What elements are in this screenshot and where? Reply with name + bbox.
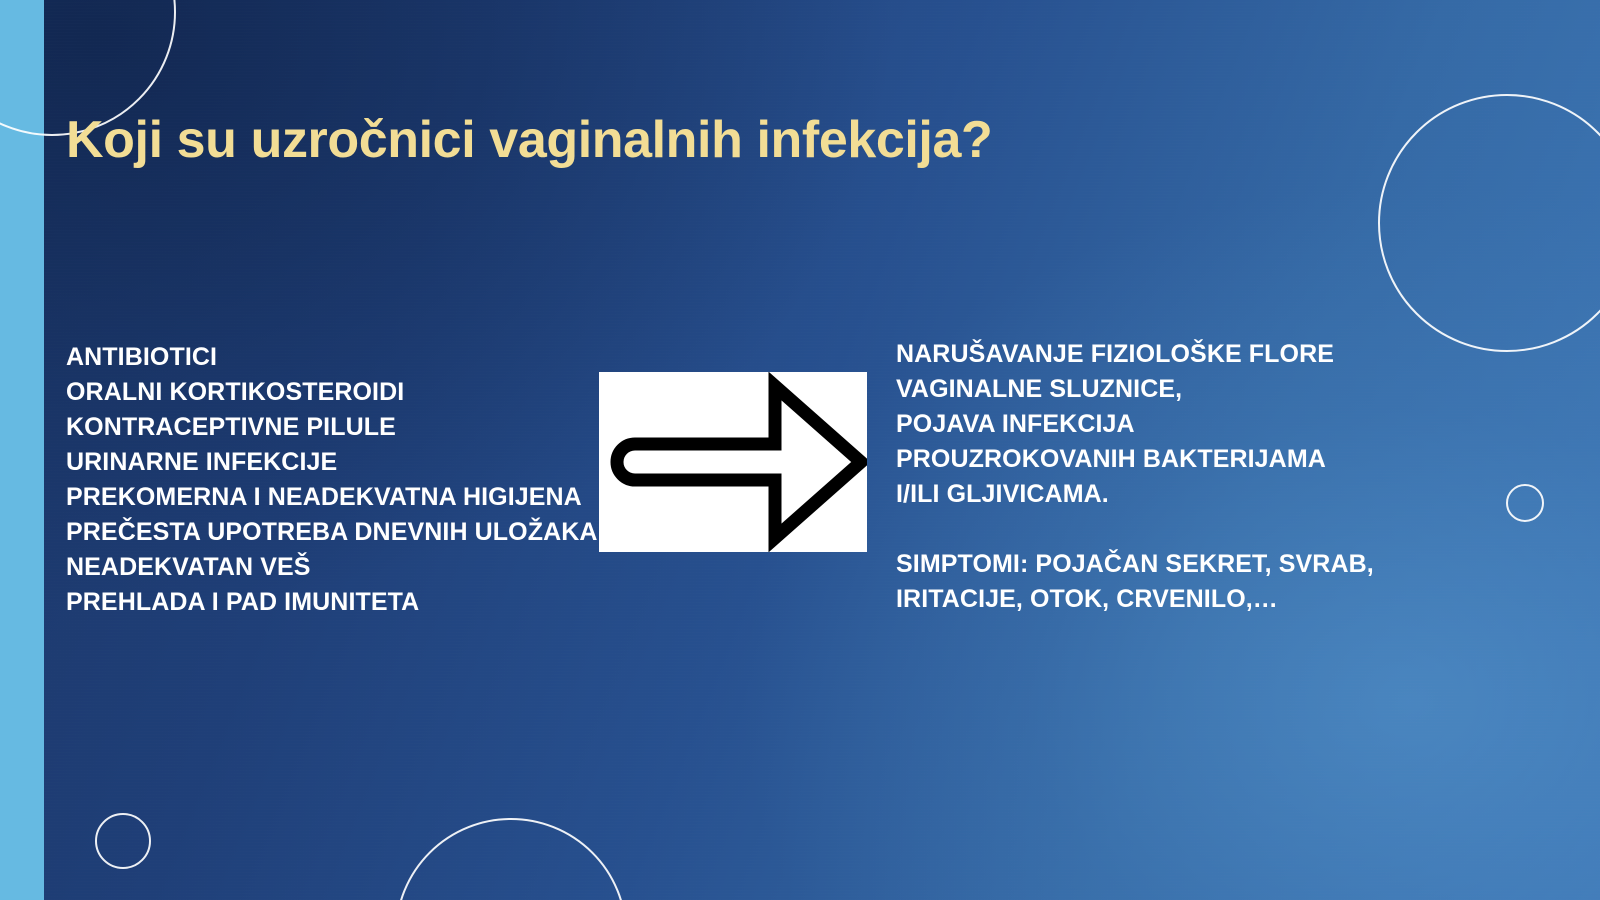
- effects-paragraph-two: SIMPTOMI: POJAČAN SEKRET, SVRAB, IRITACI…: [896, 547, 1416, 617]
- text-line: SIMPTOMI: POJAČAN SEKRET, SVRAB,: [896, 547, 1416, 582]
- text-line: NARUŠAVANJE FIZIOLOŠKE FLORE: [896, 337, 1416, 372]
- effects-paragraph-one: NARUŠAVANJE FIZIOLOŠKE FLORE VAGINALNE S…: [896, 337, 1416, 512]
- decorative-circle-right-small-icon: [1506, 484, 1544, 522]
- list-item: PREKOMERNA I NEADEKVATNA HIGIJENA: [66, 480, 686, 515]
- text-line: PROUZROKOVANIH BAKTERIJAMA: [896, 442, 1416, 477]
- right-arrow-icon: [599, 372, 867, 552]
- text-line: IRITACIJE, OTOK, CRVENILO,…: [896, 582, 1416, 617]
- list-item: NEADEKVATAN VEŠ: [66, 550, 686, 585]
- arrow-picture: [599, 372, 867, 552]
- list-item: URINARNE INFEKCIJE: [66, 445, 686, 480]
- text-line: I/ILI GLJIVICAMA.: [896, 477, 1416, 512]
- presentation-slide: Koji su uzročnici vaginalnih infekcija? …: [0, 0, 1600, 900]
- decorative-circle-bottom-center-icon: [395, 818, 627, 900]
- text-line: POJAVA INFEKCIJA: [896, 407, 1416, 442]
- slide-title: Koji su uzročnici vaginalnih infekcija?: [66, 112, 1266, 169]
- effects-text: NARUŠAVANJE FIZIOLOŠKE FLORE VAGINALNE S…: [896, 337, 1416, 617]
- text-line: VAGINALNE SLUZNICE,: [896, 372, 1416, 407]
- decorative-circle-bottom-left-icon: [95, 813, 151, 869]
- list-item: PREHLADA I PAD IMUNITETA: [66, 585, 686, 620]
- list-item: ANTIBIOTICI: [66, 340, 686, 375]
- decorative-circle-top-right-icon: [1378, 94, 1600, 352]
- list-item: KONTRACEPTIVNE PILULE: [66, 410, 686, 445]
- list-item: ORALNI KORTIKOSTEROIDI: [66, 375, 686, 410]
- causes-list: ANTIBIOTICI ORALNI KORTIKOSTEROIDI KONTR…: [66, 340, 686, 620]
- list-item: PREČESTA UPOTREBA DNEVNIH ULOŽAKA: [66, 515, 686, 550]
